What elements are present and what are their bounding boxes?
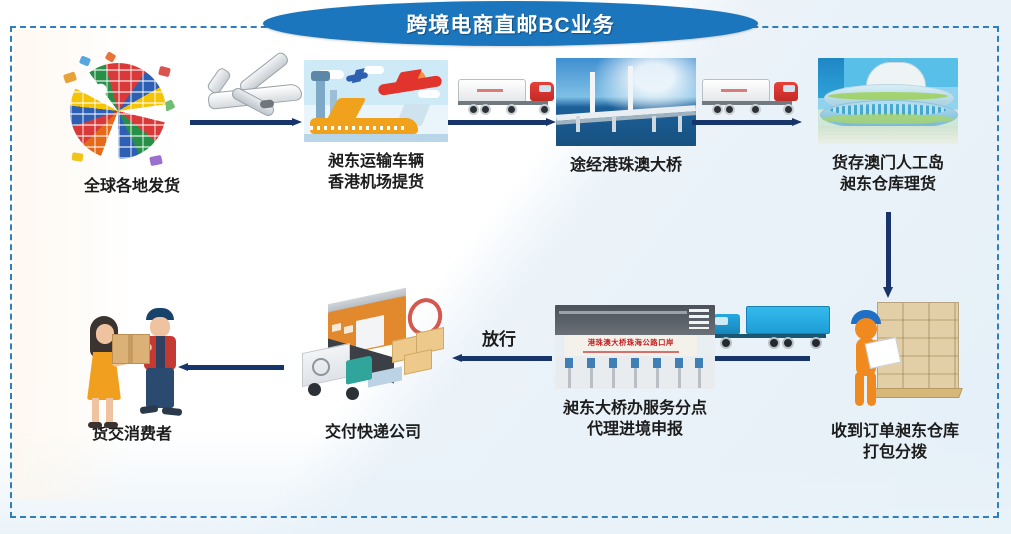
airport-airplane-icon (304, 60, 448, 142)
airplane-icon (202, 62, 310, 120)
world-flags-globe-icon (62, 55, 202, 167)
flow-step-2-caption-line2: 香港机场提货 (302, 172, 450, 193)
diagram-canvas: 跨境电商直邮BC业务 全球各地发货 (0, 0, 1011, 534)
flow-step-8[interactable]: 货交消费者 (62, 300, 202, 445)
flow-step-6-caption-line2: 代理进境申报 (545, 419, 725, 440)
truck-red-white-icon-2 (702, 76, 798, 116)
arrow-5-label: 放行 (482, 325, 516, 350)
flow-step-3[interactable]: 途经港珠澳大桥 (556, 58, 696, 176)
arrow-3 (692, 118, 802, 127)
flow-step-4-caption-line2: 昶东仓库理货 (818, 174, 958, 195)
arrow-2 (448, 118, 556, 127)
truck-red-white-icon (458, 76, 554, 116)
flow-step-8-caption: 货交消费者 (62, 424, 202, 445)
hong-kong-zhuhai-macao-bridge-icon (556, 58, 696, 146)
title-banner: 跨境电商直邮BC业务 (263, 1, 758, 46)
warehouse-worker-pallet-icon (831, 296, 959, 412)
truck-blue-container-icon (712, 306, 830, 350)
flow-step-1[interactable]: 全球各地发货 (62, 55, 202, 197)
arrow-1 (190, 118, 302, 127)
flow-step-3-caption: 途经港珠澳大桥 (556, 155, 696, 176)
arrow-5 (452, 354, 552, 363)
arrow-down (883, 212, 894, 298)
page-title: 跨境电商直邮BC业务 (406, 9, 614, 39)
flow-step-6[interactable]: 港珠澳大桥珠海公路口岸 昶东大桥办服务分点 代理进境申报 (545, 305, 725, 440)
flow-step-2[interactable]: 昶东运输车辆 香港机场提货 (302, 60, 450, 193)
flow-step-7[interactable]: 交付快递公司 (288, 296, 458, 443)
flow-step-4-caption-line1: 货存澳门人工岛 (818, 153, 958, 174)
flow-step-5-caption-line1: 收到订单昶东仓库 (810, 421, 980, 442)
flow-step-5-caption-line2: 打包分拨 (810, 442, 980, 463)
macao-artificial-island-warehouse-icon (818, 58, 958, 144)
checkpoint-sign-text: 港珠澳大桥珠海公路口岸 (588, 337, 674, 347)
flow-step-5[interactable]: 收到订单昶东仓库 打包分拨 (810, 296, 980, 463)
border-checkpoint-icon: 港珠澳大桥珠海公路口岸 (555, 305, 715, 389)
flow-step-4[interactable]: 货存澳门人工岛 昶东仓库理货 (818, 58, 958, 195)
courier-handing-parcel-icon (76, 300, 188, 416)
flow-step-7-caption: 交付快递公司 (288, 422, 458, 443)
flow-step-2-caption-line1: 昶东运输车辆 (302, 151, 450, 172)
warehouse-delivery-truck-icon (298, 296, 448, 406)
flow-step-6-caption-line1: 昶东大桥办服务分点 (545, 398, 725, 419)
flow-step-1-caption: 全球各地发货 (62, 176, 202, 197)
